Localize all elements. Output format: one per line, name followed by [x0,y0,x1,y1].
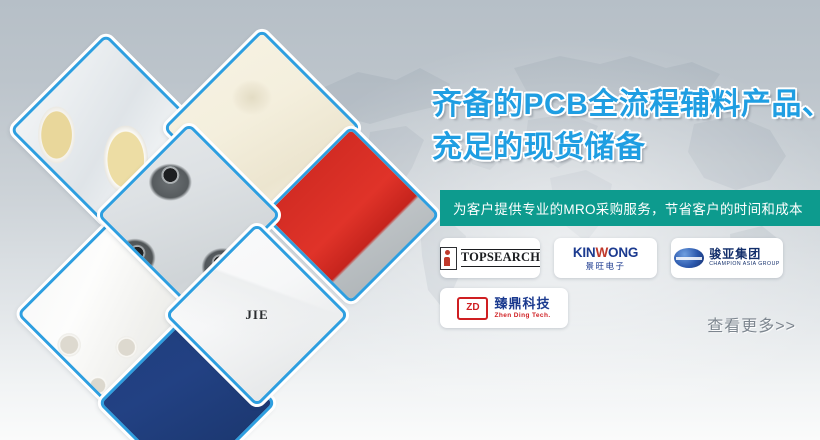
zhen-ding-text: 臻鼎科技 Zhen Ding Tech. [494,297,550,319]
zhending-mark-icon: ZD [457,297,488,320]
kinwong-subtext: 景旺电子 [573,262,638,271]
topsearch-wordmark: TOPSEARCH [461,249,540,266]
banner-headline: 齐备的PCB全流程辅料产品、 充足的现货储备 [432,84,820,169]
headline-line-1: 齐备的PCB全流程辅料产品、 [432,88,820,121]
promo-banner: JIE 齐备的PCB全流程辅料产品、 充足的现货储备 为客户提供专业的MRO采购… [0,0,820,440]
banner-subtitle-bar: 为客户提供专业的MRO采购服务，节省客户的时间和成本 [440,190,820,226]
kinwong-lockup: KINWONG 景旺电子 [573,246,638,271]
zhen-ding-lockup: ZD 臻鼎科技 Zhen Ding Tech. [457,297,550,320]
globe-icon [674,248,704,268]
kinwong-text-ong: ONG [608,245,638,260]
zhen-ding-cn: 臻鼎科技 [494,297,550,310]
zhen-ding-en: Zhen Ding Tech. [494,313,550,320]
logo-champion-asia[interactable]: 骏亚集团 CHAMPION ASIA GROUP [671,238,783,278]
banner-subtitle-text: 为客户提供专业的MRO采购服务，节省客户的时间和成本 [440,198,803,218]
product-diamond-mosaic: JIE [0,0,430,440]
kinwong-text-kin: KIN [573,245,596,260]
tile-brand-label: JIE [245,307,268,323]
logo-kinwong[interactable]: KINWONG 景旺电子 [554,238,657,278]
champion-asia-en: CHAMPION ASIA GROUP [709,262,780,267]
logo-zhen-ding[interactable]: ZD 臻鼎科技 Zhen Ding Tech. [440,288,568,328]
headline-line-2: 充足的现货储备 [432,127,820,170]
client-logo-row-1: TOPSEARCH KINWONG 景旺电子 骏亚集团 CHAMPION ASI [440,238,820,278]
kinwong-text-w: W [595,245,608,260]
kinwong-wordmark-icon: KINWONG [573,246,638,260]
topsearch-mark-icon [440,247,457,270]
view-more-link[interactable]: 查看更多>> [707,312,796,336]
logo-topsearch[interactable]: TOPSEARCH [440,238,540,278]
champion-asia-cn: 骏亚集团 [709,248,780,260]
champion-asia-lockup: 骏亚集团 CHAMPION ASIA GROUP [674,248,780,268]
banner-content: 齐备的PCB全流程辅料产品、 充足的现货储备 为客户提供专业的MRO采购服务，节… [430,0,820,440]
champion-asia-text: 骏亚集团 CHAMPION ASIA GROUP [709,248,780,267]
topsearch-lockup: TOPSEARCH [440,247,540,270]
